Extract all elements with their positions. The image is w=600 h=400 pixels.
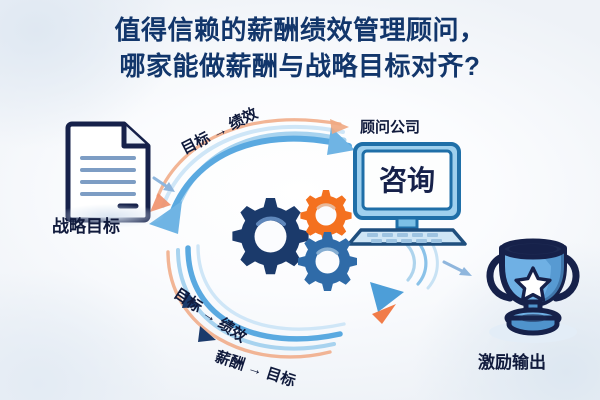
arc-bottom-arrowhead-right xyxy=(370,282,404,312)
label-reward-output: 激励输出 xyxy=(478,348,546,373)
monitor-screen-text: 咨询 xyxy=(379,165,435,196)
title-line-1: 值得信赖的薪酬绩效管理顾问， xyxy=(0,14,600,48)
poster-title: 值得信赖的薪酬绩效管理顾问， 哪家能做薪酬与战略目标对齐? xyxy=(0,14,600,84)
label-strategy-goal: 战略目标 xyxy=(52,212,120,237)
corner-vignette-bottomleft xyxy=(0,270,170,400)
gear-medium-steelblue xyxy=(298,232,357,291)
arc-label-top: 目标 → 绩效 xyxy=(177,102,261,159)
label-consultant-company: 顾问公司 xyxy=(360,116,420,137)
gears-icon-wrap xyxy=(218,186,358,292)
arc-label-bottom-2: 薪酬 → 目标 xyxy=(213,346,299,392)
gears-icon xyxy=(218,186,364,298)
trophy-icon xyxy=(478,228,588,348)
trophy-icon-wrap xyxy=(478,228,586,346)
poster-canvas: 值得信赖的薪酬绩效管理顾问， 哪家能做薪酬与战略目标对齐? xyxy=(0,0,600,400)
arc-bottom-arrowhead-right-orange xyxy=(372,304,396,324)
mini-arrow-to-trophy xyxy=(444,262,472,276)
title-line-2: 哪家能做薪酬与战略目标对齐? xyxy=(0,50,600,84)
gear-large-navy xyxy=(232,198,308,274)
arc-top-arrowhead-right-orange xyxy=(330,119,349,134)
